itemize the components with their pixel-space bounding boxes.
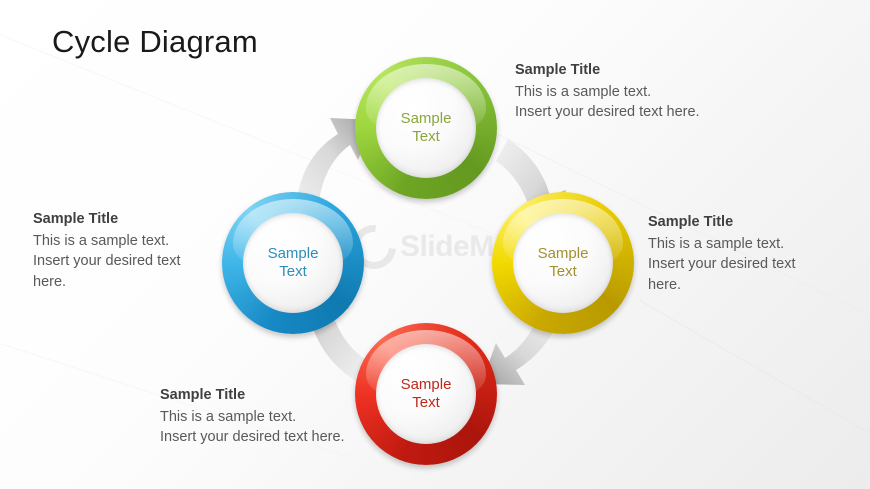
node-label-blue: Sample Text (243, 213, 343, 313)
text-block-right: Sample Title This is a sample text. Inse… (648, 212, 828, 295)
text-block-title: Sample Title (33, 209, 209, 230)
text-block-title: Sample Title (648, 212, 828, 233)
text-block-line1: This is a sample text. (33, 231, 209, 252)
node-label-line1: Sample (268, 245, 319, 263)
text-block-line2: Insert your desired text here. (648, 254, 828, 295)
text-block-line1: This is a sample text. (160, 407, 420, 428)
node-label-line1: Sample (538, 245, 589, 263)
cycle-node-blue[interactable]: Sample Text (222, 192, 364, 334)
text-block-line2: Insert your desired text here. (515, 102, 765, 123)
node-label-yellow: Sample Text (513, 213, 613, 313)
text-block-bottom: Sample Title This is a sample text. Inse… (160, 385, 420, 448)
cycle-node-green[interactable]: Sample Text (355, 57, 497, 199)
text-block-left: Sample Title This is a sample text. Inse… (33, 209, 209, 292)
node-label-green: Sample Text (376, 78, 476, 178)
node-label-line2: Text (279, 263, 307, 281)
text-block-title: Sample Title (160, 385, 420, 406)
text-block-title: Sample Title (515, 60, 765, 81)
text-block-line1: This is a sample text. (515, 82, 765, 103)
text-block-line1: This is a sample text. (648, 234, 828, 255)
node-label-line2: Text (412, 128, 440, 146)
slide-canvas: Cycle Diagram SlideModel .com (0, 0, 870, 489)
node-label-line1: Sample (401, 110, 452, 128)
cycle-node-yellow[interactable]: Sample Text (492, 192, 634, 334)
node-label-line2: Text (549, 263, 577, 281)
text-block-top: Sample Title This is a sample text. Inse… (515, 60, 765, 123)
text-block-line2: Insert your desired text here. (160, 427, 420, 448)
text-block-line2: Insert your desired text here. (33, 251, 209, 292)
